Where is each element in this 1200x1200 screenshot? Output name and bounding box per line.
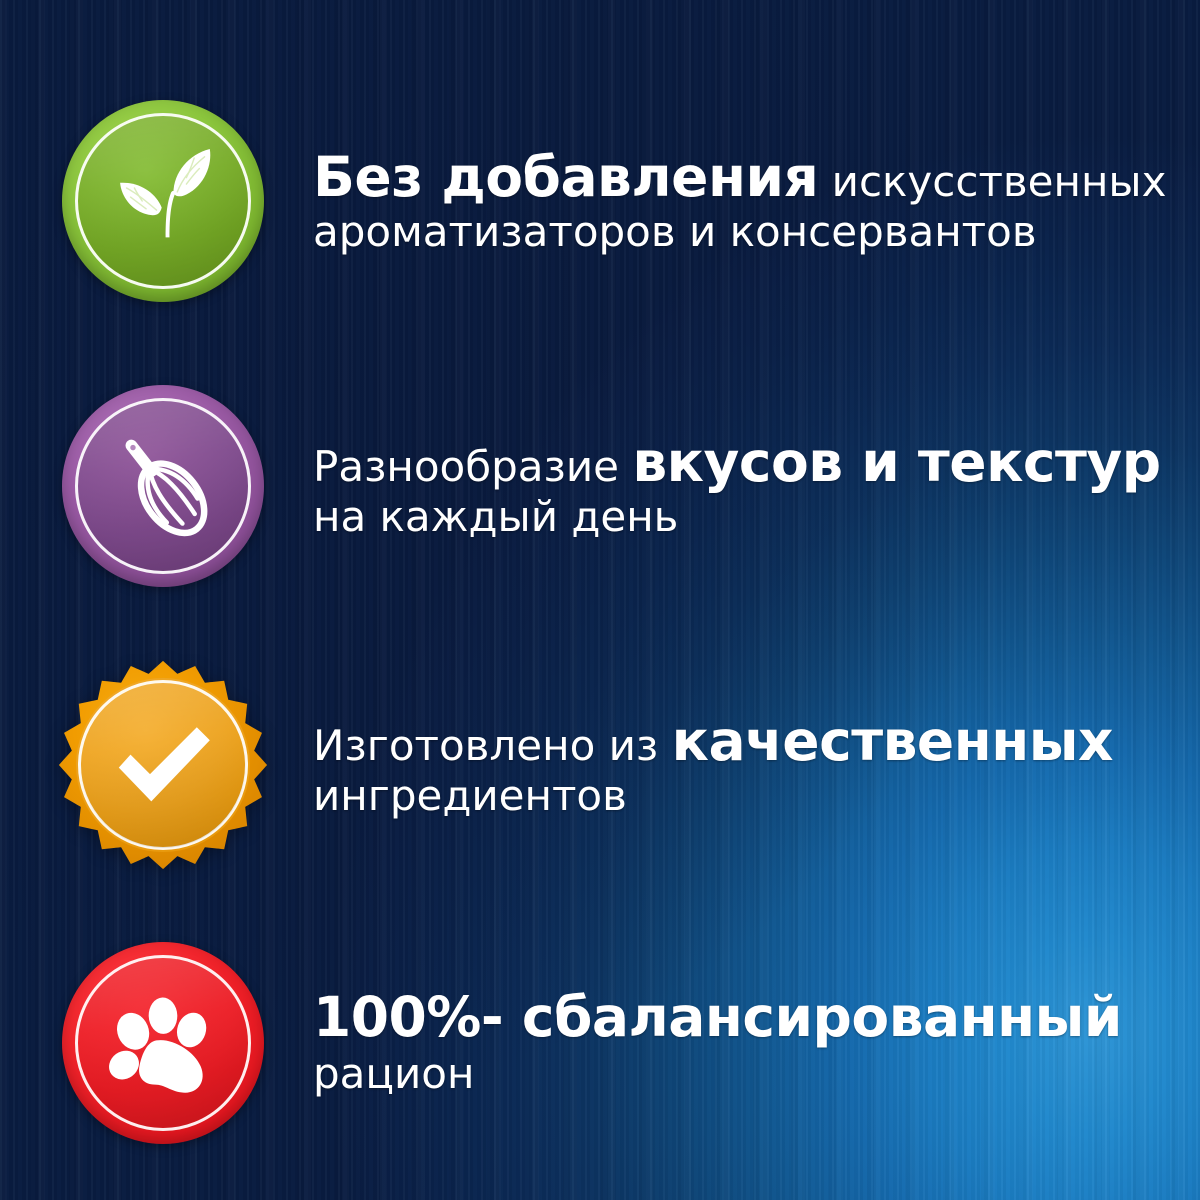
leaf-sprout-icon xyxy=(98,136,228,266)
feature-rest: искусственных xyxy=(818,157,1166,206)
badge-green xyxy=(62,100,264,302)
badge-wrap-orange xyxy=(55,658,270,873)
badge-red xyxy=(62,942,264,1144)
feature-text-no-artificial-additives: Без добавления искусственных ароматизато… xyxy=(313,148,1200,255)
feature-list: Без добавления искусственных ароматизато… xyxy=(0,0,1200,1200)
feature-plain: Разнообразие xyxy=(313,442,632,491)
feature-emphasis: Без добавления xyxy=(313,145,818,209)
feature-line-2: ингредиентов xyxy=(313,774,1200,819)
feature-line-2: ароматизаторов и консервантов xyxy=(313,210,1200,255)
whisk-icon xyxy=(98,421,228,551)
feature-plain: Изготовлено из xyxy=(313,721,672,770)
badge-purple xyxy=(62,385,264,587)
feature-line-1: Изготовлено из качественных xyxy=(313,712,1200,770)
check-mark-icon xyxy=(98,700,228,830)
feature-emphasis: вкусов и текстур xyxy=(632,430,1160,494)
feature-line-1: 100%- сбалансированный xyxy=(313,988,1200,1046)
badge-orange xyxy=(62,664,264,866)
feature-text-quality-ingredients: Изготовлено из качественных ингредиентов xyxy=(313,712,1200,819)
feature-line-2: рацион xyxy=(313,1052,1200,1097)
feature-text-variety-of-flavours: Разнообразие вкусов и текстур на каждый … xyxy=(313,433,1200,540)
paw-print-icon xyxy=(98,978,228,1108)
feature-row-balanced-ration: 100%- сбалансированный рацион xyxy=(0,935,1200,1150)
feature-row-no-artificial-additives: Без добавления искусственных ароматизато… xyxy=(0,96,1200,306)
feature-row-quality-ingredients: Изготовлено из качественных ингредиентов xyxy=(0,655,1200,875)
feature-emphasis: качественных xyxy=(672,709,1113,773)
feature-line-2: на каждый день xyxy=(313,495,1200,540)
badge-wrap-purple xyxy=(55,379,270,594)
badge-wrap-red xyxy=(55,935,270,1150)
badge-wrap-green xyxy=(55,94,270,309)
feature-text-balanced-ration: 100%- сбалансированный рацион xyxy=(313,988,1200,1097)
feature-row-variety-of-flavours: Разнообразие вкусов и текстур на каждый … xyxy=(0,381,1200,591)
feature-line-1: Разнообразие вкусов и текстур xyxy=(313,433,1200,491)
infographic-canvas: Без добавления искусственных ароматизато… xyxy=(0,0,1200,1200)
feature-line-1: Без добавления искусственных xyxy=(313,148,1200,206)
